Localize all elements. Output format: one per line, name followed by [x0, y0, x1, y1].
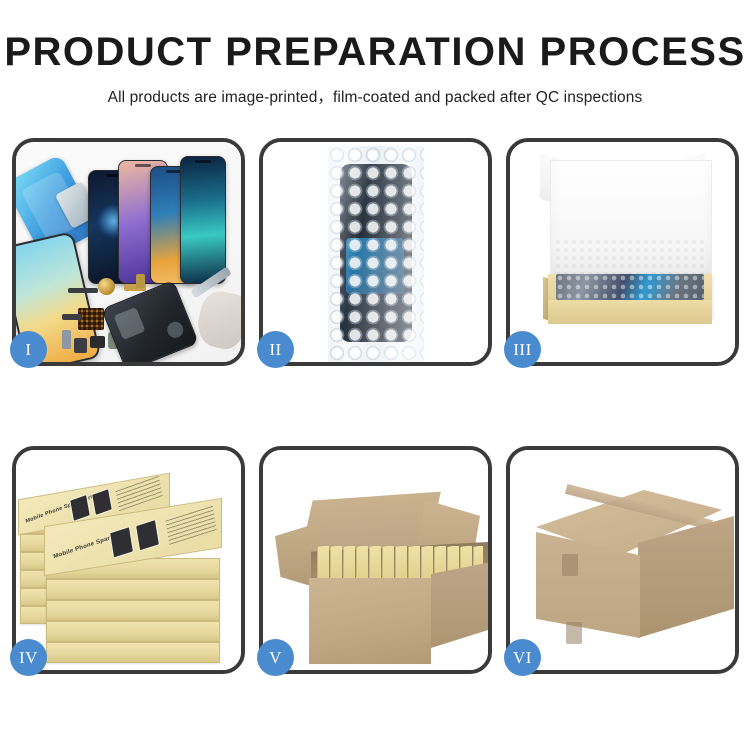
- bubble-wrap-sleeve: [328, 146, 424, 362]
- inner-box-front: [548, 300, 712, 324]
- process-step-4: Mobile Phone Spare Parts Mobile Phone Sp…: [12, 446, 245, 674]
- step-badge-1: I: [10, 331, 47, 368]
- process-step-3: III: [506, 138, 739, 366]
- box-spec-lines: [165, 505, 216, 545]
- antenna-strip-part: [62, 314, 82, 320]
- page-subtitle: All products are image-printed，film-coat…: [0, 85, 750, 107]
- packed-wrapped-phone: [556, 274, 704, 300]
- flex-cable-part: [68, 288, 98, 293]
- step-badge-6: VI: [504, 639, 541, 676]
- step-1-image: [16, 142, 241, 362]
- box-thumbnail: [91, 488, 113, 516]
- stacked-box: [46, 579, 220, 600]
- plastic-sheen: [328, 146, 424, 362]
- box-thumbnail: [135, 519, 160, 552]
- process-step-5: V: [259, 446, 492, 674]
- step-6-image: [510, 450, 735, 670]
- stacked-box: [46, 642, 220, 663]
- step-3-image: [510, 142, 735, 362]
- stacked-box: [46, 600, 220, 621]
- carton-side-panel: [431, 562, 488, 648]
- carton-tape-mark: [562, 554, 578, 576]
- process-step-2: II: [259, 138, 492, 366]
- step-2-image: [263, 142, 488, 362]
- box-thumbnail: [69, 494, 91, 522]
- box-spec-lines: [115, 475, 162, 511]
- step-4-image: Mobile Phone Spare Parts Mobile Phone Sp…: [16, 450, 241, 670]
- carton-front-panel: [309, 578, 431, 664]
- camera-module-part: [74, 338, 87, 353]
- process-step-6: VI: [506, 446, 739, 674]
- step-badge-4: IV: [10, 639, 47, 676]
- process-step-1: I: [12, 138, 245, 366]
- sim-tray-part: [62, 330, 71, 349]
- process-step-grid: I II: [12, 138, 738, 674]
- step-badge-3: III: [504, 331, 541, 368]
- technician-hand: [194, 288, 241, 352]
- speaker-part: [90, 336, 105, 348]
- phone-screen-4: [180, 156, 226, 284]
- button-part: [136, 274, 145, 288]
- box-stack: Mobile Phone Spare Parts Mobile Phone Sp…: [16, 450, 241, 670]
- carton-tape-mark: [566, 622, 582, 644]
- phone-back-housing: [101, 280, 199, 362]
- box-thumbnail: [109, 526, 134, 559]
- chip-array-icon: [78, 308, 104, 330]
- phone-lineup: [88, 154, 241, 284]
- step-5-image: [263, 450, 488, 670]
- page-title: PRODUCT PREPARATION PROCESS: [0, 30, 750, 74]
- header: PRODUCT PREPARATION PROCESS All products…: [0, 0, 750, 107]
- step-badge-2: II: [257, 331, 294, 368]
- stacked-box: [46, 621, 220, 642]
- speaker-coil-icon: [98, 278, 115, 295]
- step-badge-5: V: [257, 639, 294, 676]
- infographic-page: PRODUCT PREPARATION PROCESS All products…: [0, 0, 750, 750]
